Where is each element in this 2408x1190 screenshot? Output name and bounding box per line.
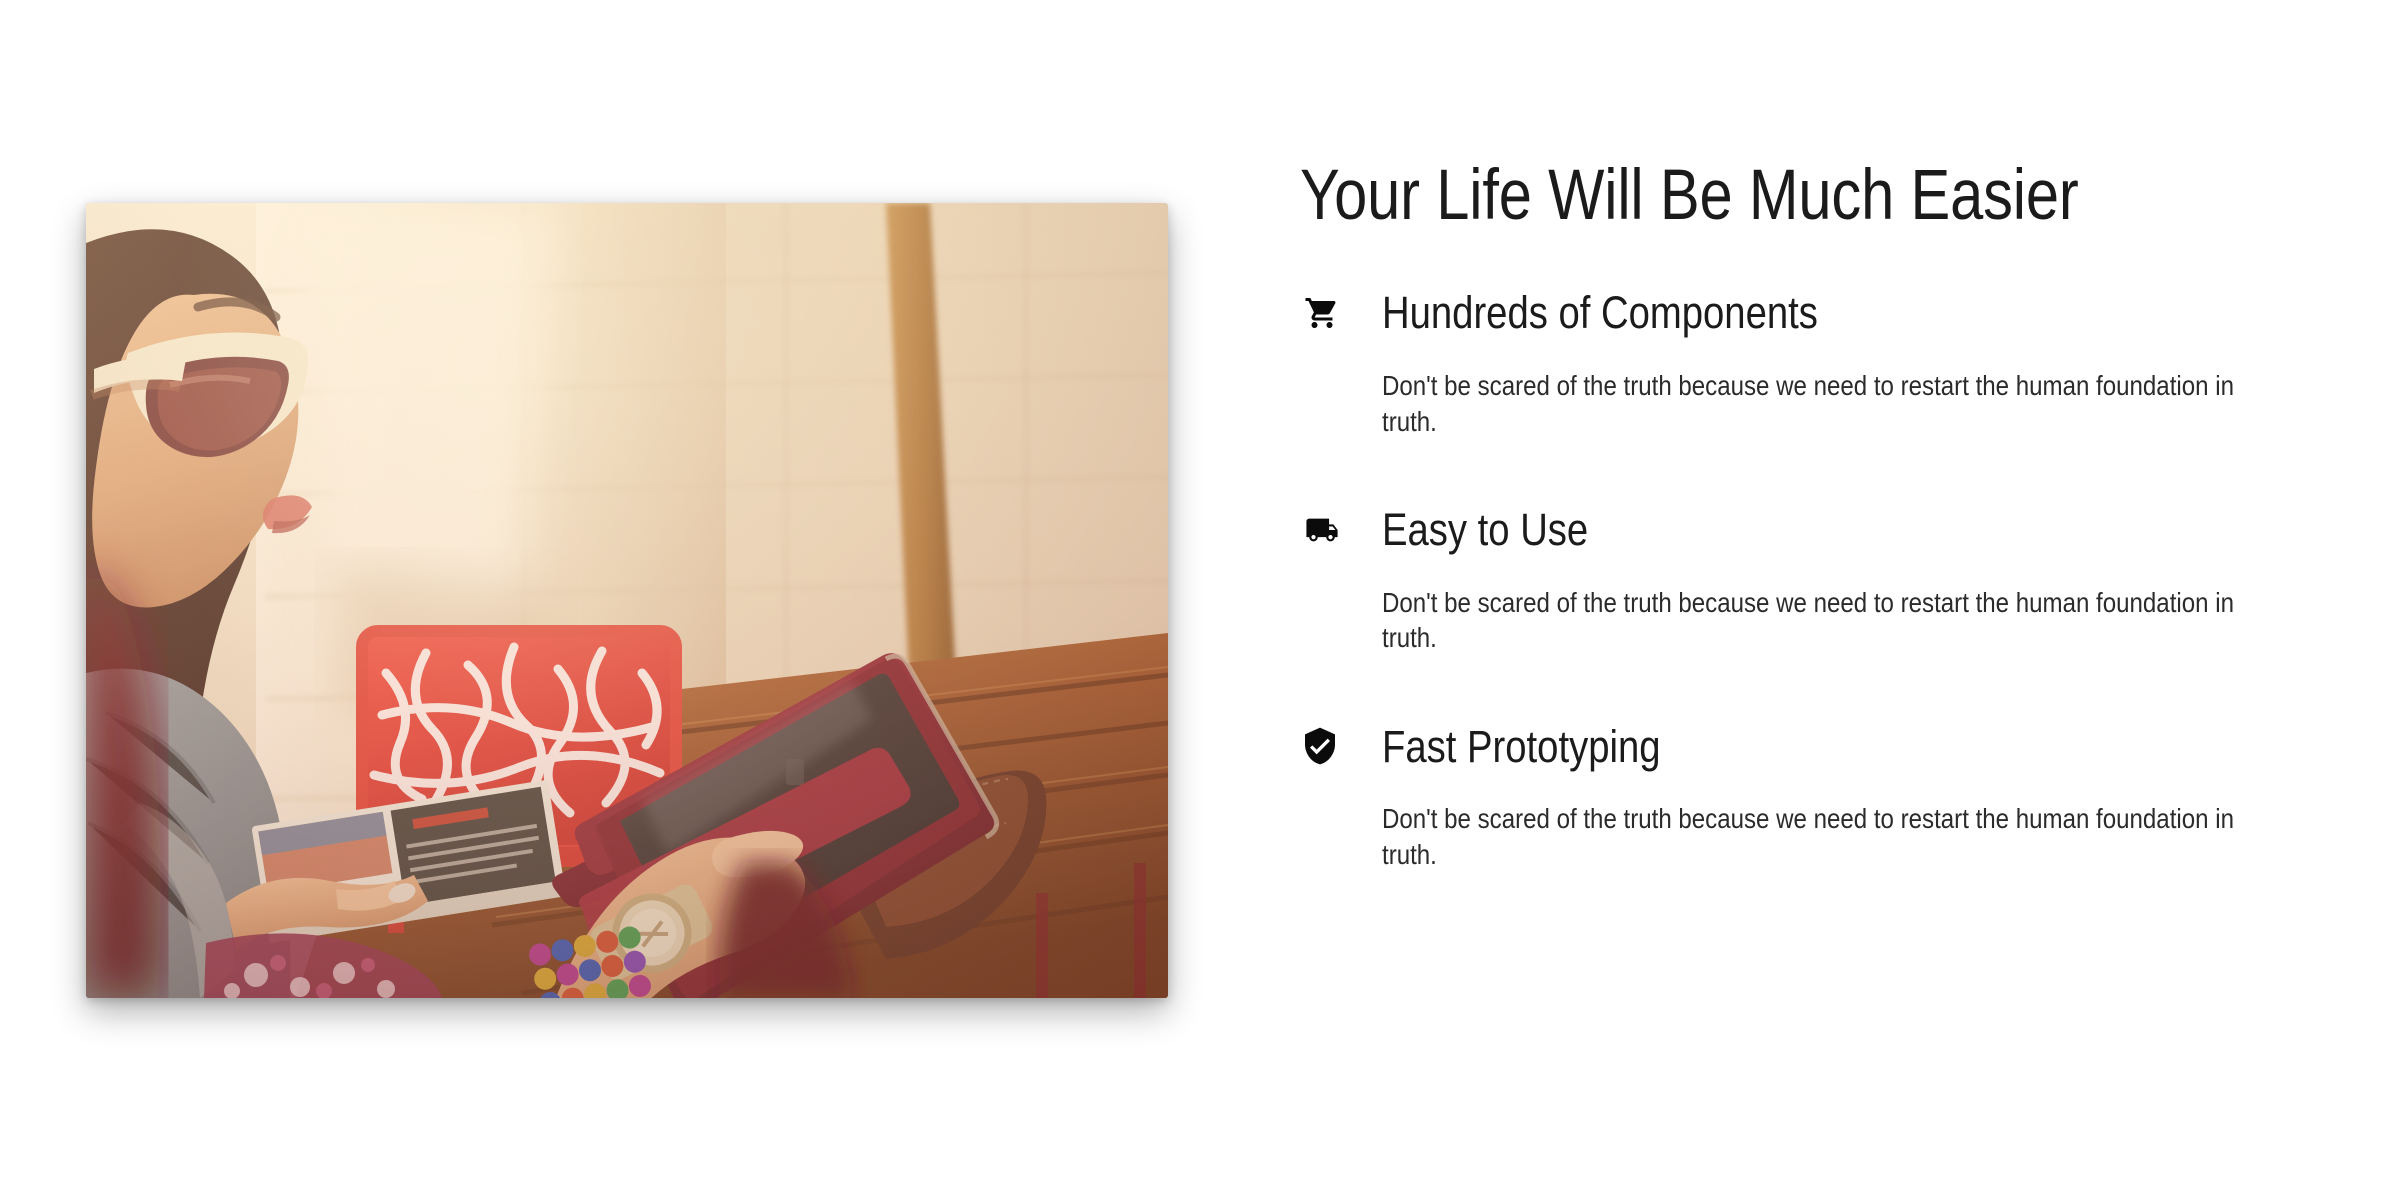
shield-check-icon	[1300, 726, 1352, 766]
feature-title: Easy to Use	[1382, 506, 1588, 553]
feature-description: Don't be scared of the truth because we …	[1382, 585, 2242, 657]
feature-item-hundreds-of-components: Hundreds of Components Don't be scared o…	[1300, 286, 2240, 440]
photo-image	[86, 203, 1168, 998]
feature-description: Don't be scared of the truth because we …	[1382, 368, 2242, 440]
delivery-truck-icon	[1300, 510, 1352, 550]
page-title: Your Life Will Be Much Easier	[1300, 160, 2090, 231]
feature-section-page: Your Life Will Be Much Easier Hundreds o…	[0, 0, 2408, 1190]
shopping-cart-icon	[1300, 293, 1352, 333]
media-column	[86, 203, 1168, 998]
content-column: Your Life Will Be Much Easier Hundreds o…	[1300, 160, 2240, 873]
feature-item-fast-prototyping: Fast Prototyping Don't be scared of the …	[1300, 719, 2240, 873]
feature-description: Don't be scared of the truth because we …	[1382, 801, 2242, 873]
feature-header: Hundreds of Components	[1300, 286, 2240, 340]
feature-header: Fast Prototyping	[1300, 719, 2240, 773]
feature-title: Hundreds of Components	[1382, 289, 1818, 336]
feature-list: Hundreds of Components Don't be scared o…	[1300, 286, 2240, 873]
feature-title: Fast Prototyping	[1382, 723, 1661, 770]
feature-header: Easy to Use	[1300, 503, 2240, 557]
feature-item-easy-to-use: Easy to Use Don't be scared of the truth…	[1300, 503, 2240, 657]
